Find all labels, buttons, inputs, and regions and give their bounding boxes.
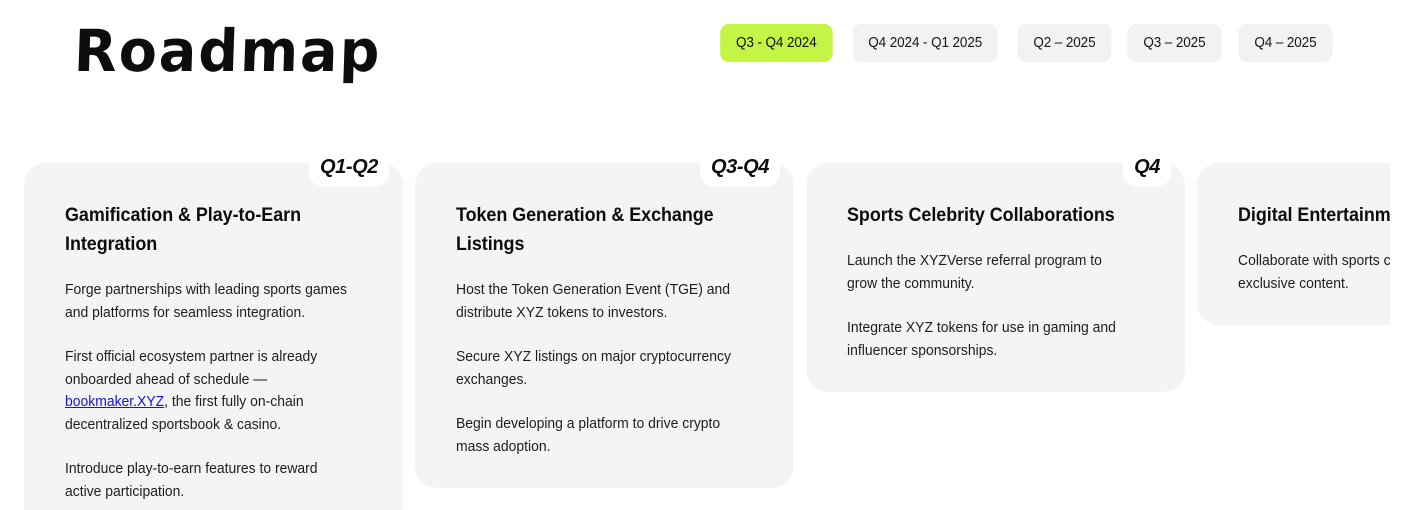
card-inner: Sports Celebrity CollaborationsLaunch th… [823, 201, 1147, 362]
card-quarter-badge: Q4 [1123, 148, 1171, 186]
card-inner: Digital EntertainmentCollaborate with sp… [1214, 201, 1390, 295]
card-paragraph: Introduce play-to-earn features to rewar… [65, 458, 352, 503]
card-quarter-badge: Q3-Q4 [700, 148, 780, 186]
card-paragraph: Launch the XYZVerse referral program to … [847, 250, 1134, 295]
card-paragraph: First official ecosystem partner is alre… [65, 346, 352, 436]
page-header: Roadmap Q3 - Q4 2024Q4 2024 - Q1 2025Q2 … [0, 0, 1402, 120]
roadmap-card: Q3-Q4Token Generation & Exchange Listing… [415, 163, 794, 488]
roadmap-card: Q1-Q2Gamification & Play-to-Earn Integra… [24, 163, 403, 510]
roadmap-page: Roadmap Q3 - Q4 2024Q4 2024 - Q1 2025Q2 … [0, 0, 1402, 510]
roadmap-card: Digital EntertainmentCollaborate with sp… [1197, 163, 1390, 325]
card-body: Launch the XYZVerse referral program to … [847, 230, 1147, 362]
card-title: Gamification & Play-to-Earn Integration [65, 201, 341, 259]
card-paragraph: Collaborate with sports celebrities to d… [1238, 250, 1390, 295]
card-title: Digital Entertainment [1238, 201, 1390, 230]
card-title: Token Generation & Exchange Listings [456, 201, 732, 259]
roadmap-cards-viewport: Q1-Q2Gamification & Play-to-Earn Integra… [0, 148, 1390, 510]
card-inner: Gamification & Play-to-Earn IntegrationF… [41, 201, 365, 503]
card-paragraph: Begin developing a platform to drive cry… [456, 413, 743, 458]
roadmap-card: Q4Sports Celebrity CollaborationsLaunch … [806, 163, 1185, 392]
quarter-tab-4[interactable]: Q4 – 2025 [1239, 24, 1333, 62]
quarter-tab-3[interactable]: Q3 – 2025 [1128, 24, 1222, 62]
card-body: Collaborate with sports celebrities to d… [1238, 230, 1390, 295]
quarter-tab-1[interactable]: Q4 2024 - Q1 2025 [853, 24, 999, 62]
card-title: Sports Celebrity Collaborations [847, 201, 1123, 230]
card-paragraph: Integrate XYZ tokens for use in gaming a… [847, 317, 1134, 362]
card-paragraph: Host the Token Generation Event (TGE) an… [456, 279, 743, 324]
roadmap-cards-track[interactable]: Q1-Q2Gamification & Play-to-Earn Integra… [24, 148, 1390, 510]
page-title: Roadmap [72, 6, 382, 96]
partner-link[interactable]: bookmaker.XYZ [65, 394, 164, 410]
card-paragraph: Forge partnerships with leading sports g… [65, 279, 352, 324]
card-inner: Token Generation & Exchange ListingsHost… [432, 201, 756, 458]
card-body: Forge partnerships with leading sports g… [65, 259, 365, 503]
quarter-tab-list: Q3 - Q4 2024Q4 2024 - Q1 2025Q2 – 2025Q3… [716, 24, 1336, 62]
card-quarter-badge: Q1-Q2 [309, 148, 389, 186]
quarter-tab-2[interactable]: Q2 – 2025 [1017, 24, 1111, 62]
quarter-tab-0[interactable]: Q3 - Q4 2024 [721, 24, 833, 62]
card-paragraph: Secure XYZ listings on major cryptocurre… [456, 346, 743, 391]
card-body: Host the Token Generation Event (TGE) an… [456, 259, 756, 458]
paragraph-text: First official ecosystem partner is alre… [65, 349, 317, 388]
